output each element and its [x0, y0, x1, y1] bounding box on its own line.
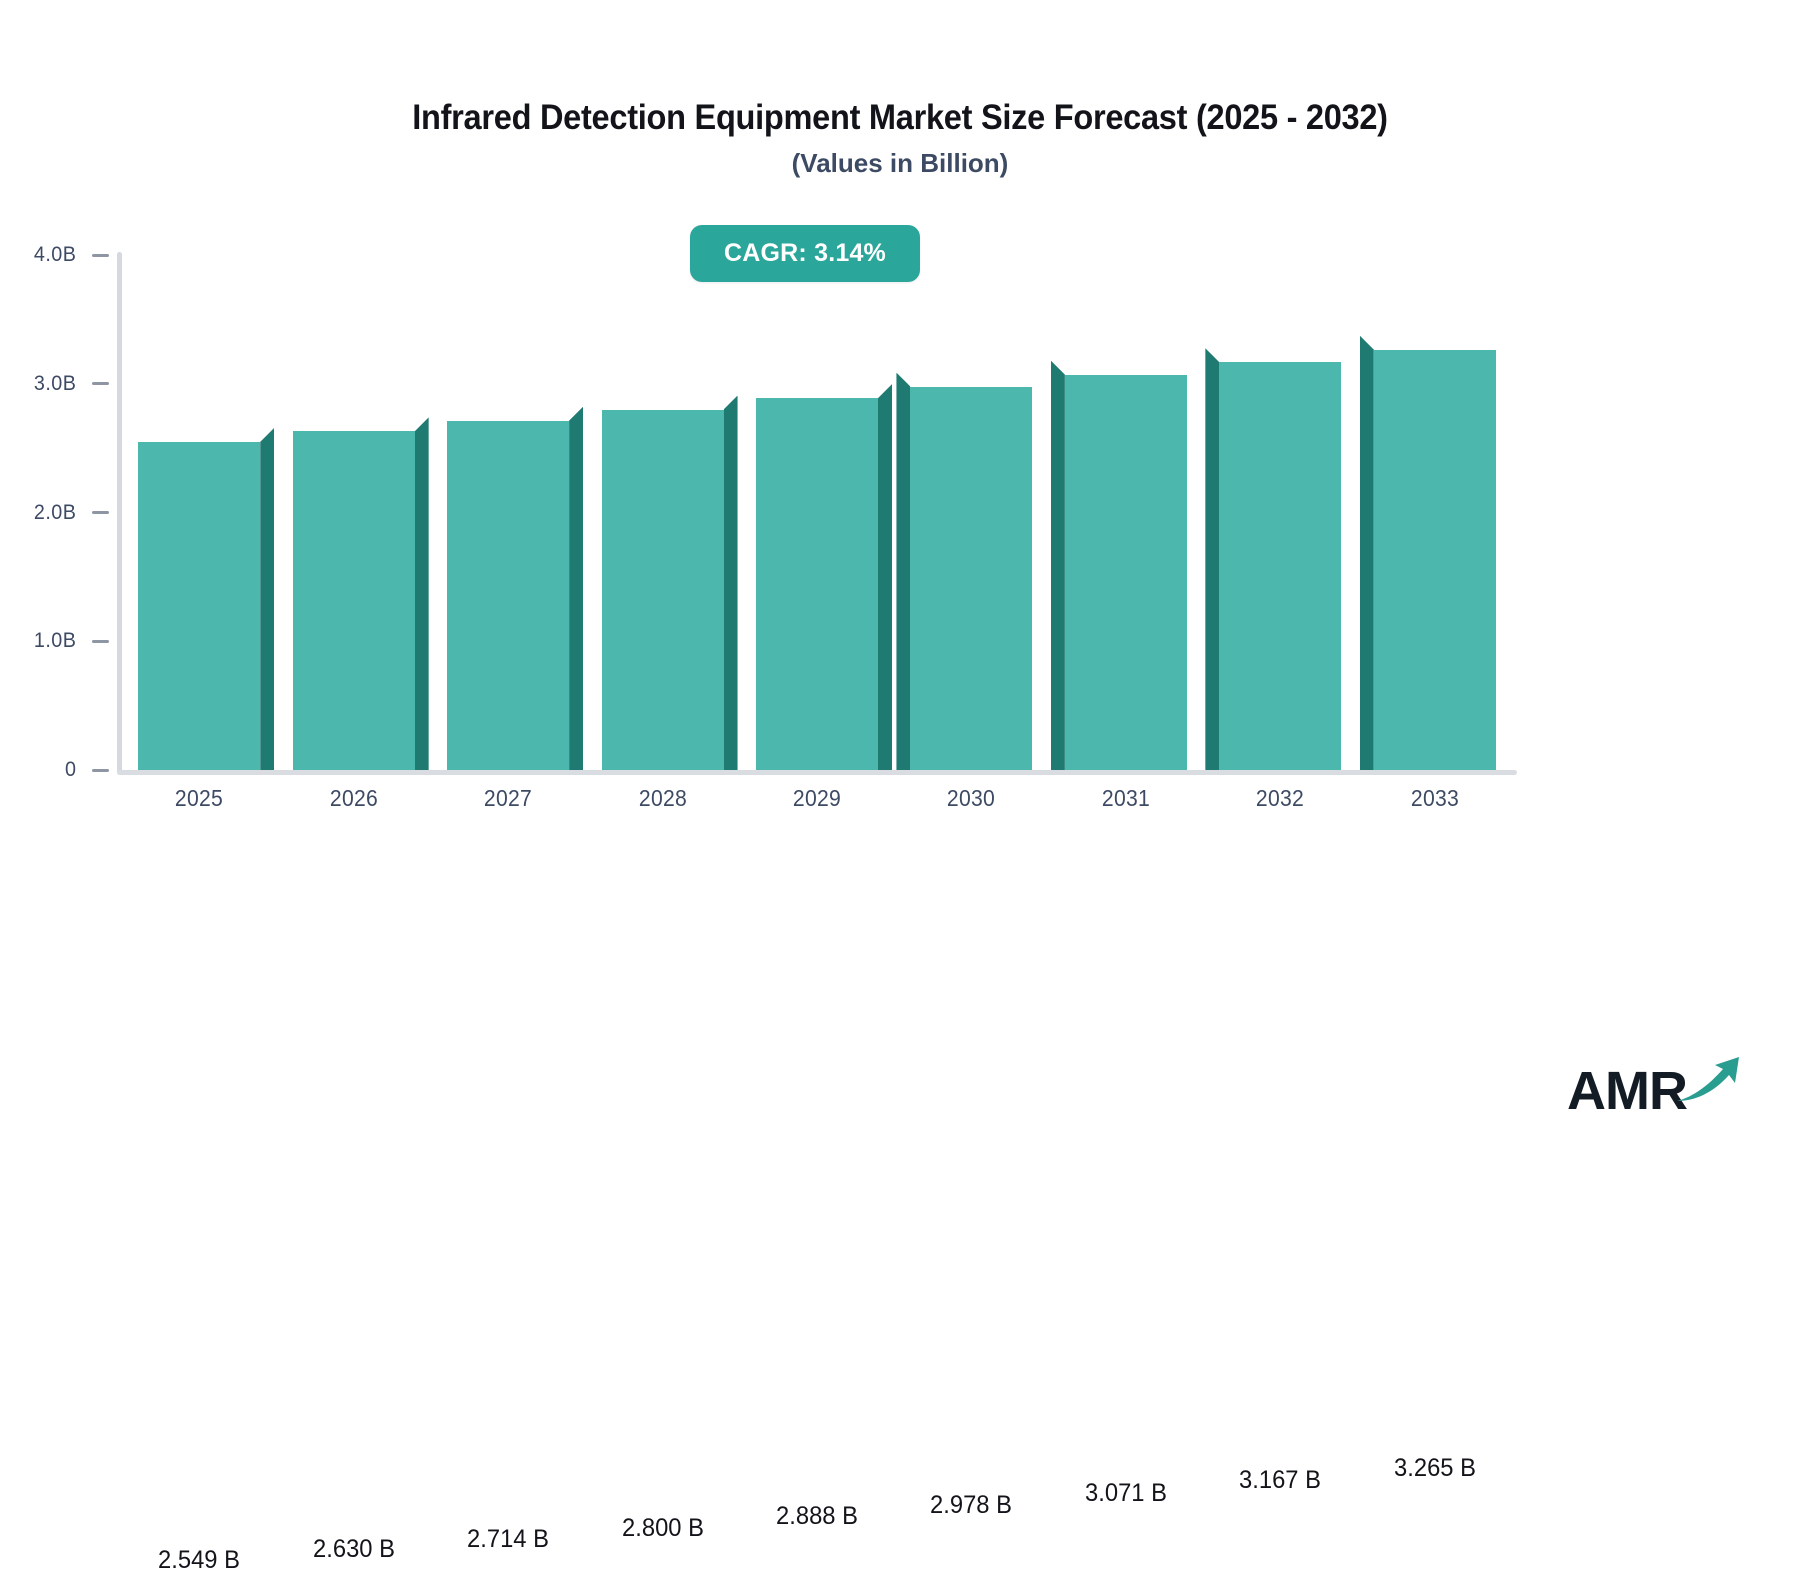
chart-page: Infrared Detection Equipment Market Size… [0, 0, 1800, 1156]
bar-face [293, 431, 415, 770]
bar-side-face [896, 373, 910, 770]
growth-arrow-icon [1675, 1051, 1745, 1114]
x-axis-label-2026: 2026 [298, 785, 408, 812]
logo-text: AMR [1567, 1064, 1687, 1118]
bar-face [447, 421, 569, 770]
bar-value-label: 2.630 B [277, 1535, 431, 1564]
x-axis-label-2029: 2029 [762, 785, 872, 812]
x-axis-label-2030: 2030 [916, 785, 1026, 812]
bar-face [1374, 350, 1496, 770]
bar-value-label: 3.265 B [1358, 1454, 1512, 1483]
x-axis-label-2028: 2028 [607, 785, 717, 812]
bar-side-face [1051, 361, 1065, 770]
bar-value-label: 2.714 B [431, 1525, 585, 1554]
bar-side-face [569, 407, 583, 770]
bar-face [1065, 375, 1187, 770]
bar-side-face [260, 428, 274, 770]
bar-side-face [1360, 336, 1374, 770]
x-axis-label-2031: 2031 [1071, 785, 1181, 812]
bar-side-face [878, 384, 892, 770]
bar-value-label: 2.888 B [740, 1502, 894, 1531]
bar-side-face [1205, 348, 1219, 770]
bar-side-face [415, 417, 429, 770]
bar-face [910, 387, 1032, 770]
x-axis-label-2033: 2033 [1380, 785, 1490, 812]
bar-series: 2.549 B2.630 B2.714 B2.800 B2.888 B2.978… [0, 0, 1800, 1156]
bar-face [1219, 362, 1341, 770]
bar-face [602, 410, 724, 771]
amr-logo: AMR [1567, 1051, 1745, 1118]
bar-value-label: 2.549 B [122, 1546, 276, 1575]
x-axis-label-2025: 2025 [144, 785, 254, 812]
x-axis-label-2027: 2027 [453, 785, 563, 812]
bar-face [138, 442, 260, 770]
bar-face [756, 398, 878, 770]
bar-value-label: 3.071 B [1049, 1479, 1203, 1508]
bar-value-label: 2.800 B [586, 1514, 740, 1543]
bar-value-label: 2.978 B [894, 1491, 1048, 1520]
x-axis-label-2032: 2032 [1225, 785, 1335, 812]
bar-side-face [724, 396, 738, 771]
bar-value-label: 3.167 B [1203, 1466, 1357, 1495]
